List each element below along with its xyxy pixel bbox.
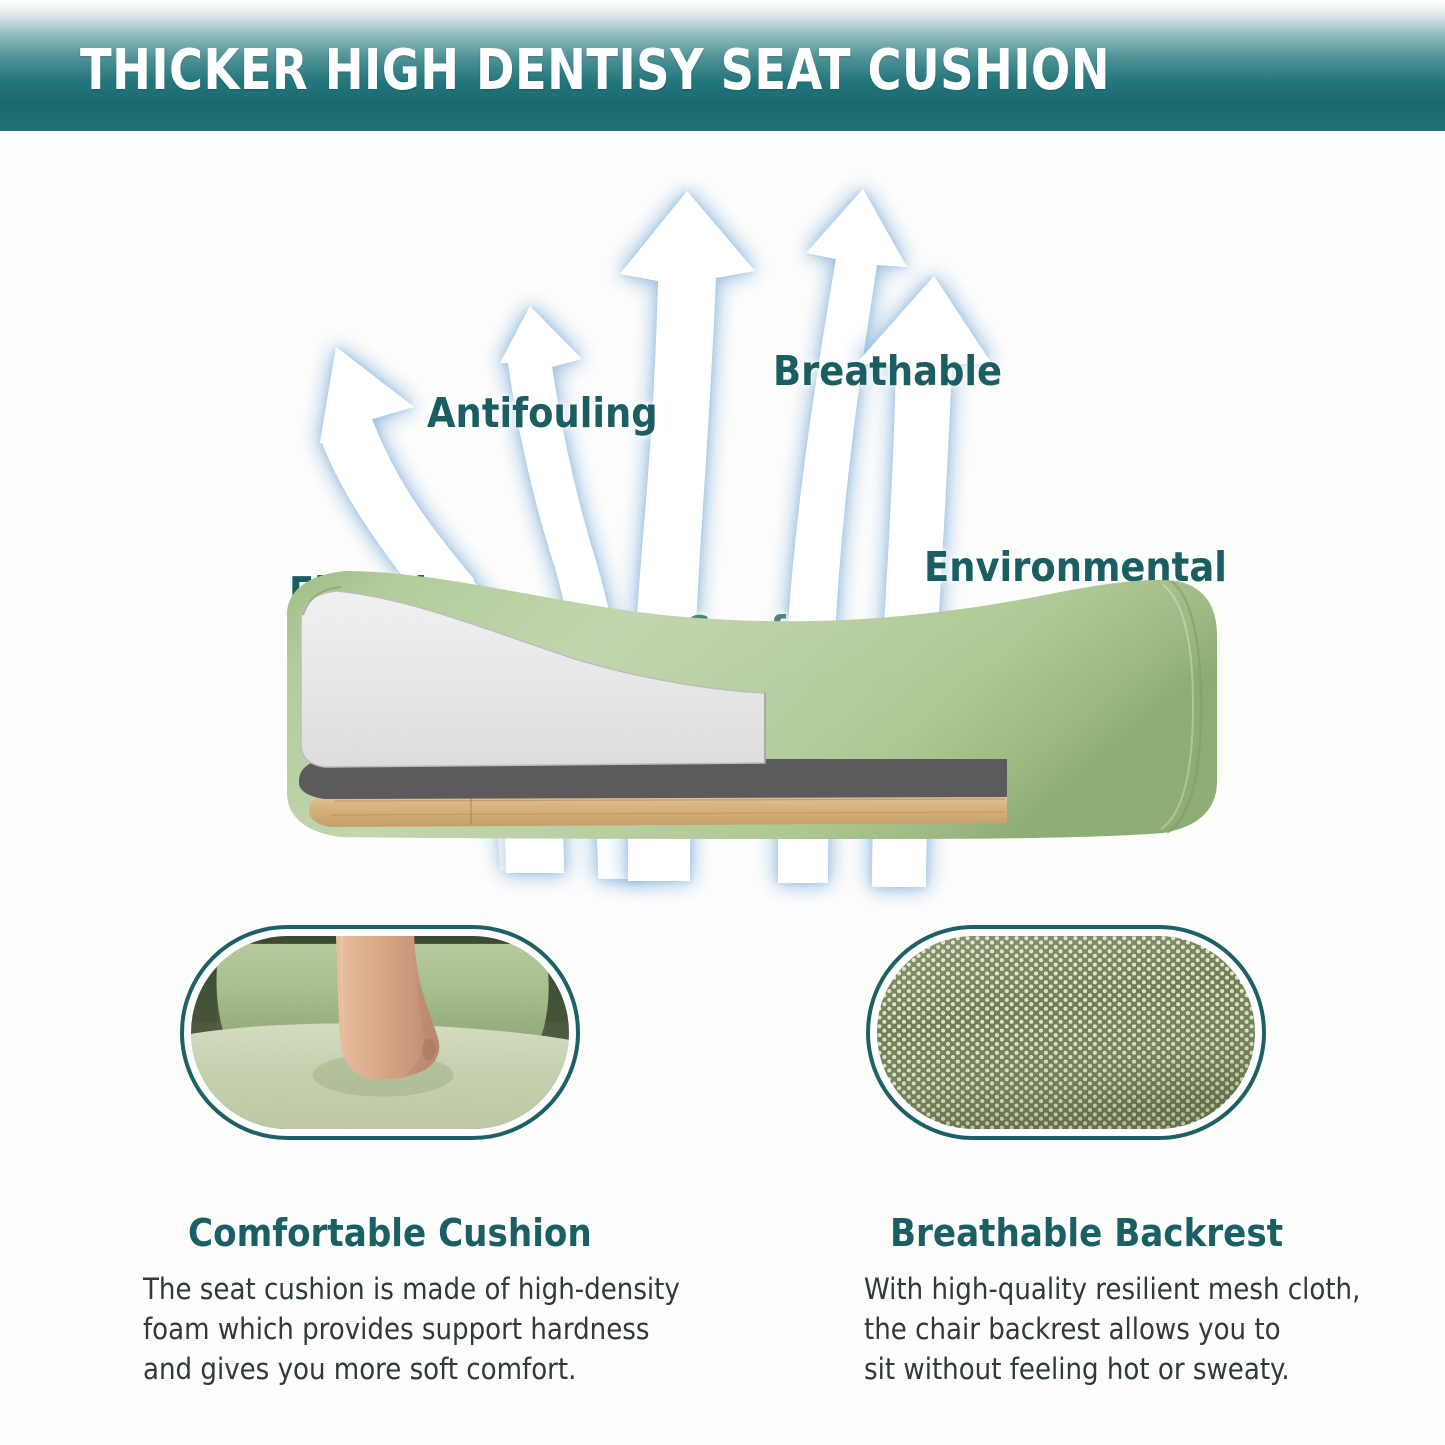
- header-banner: THICKER HIGH DENTISY SEAT CUSHION: [0, 0, 1445, 131]
- infographic-page: THICKER HIGH DENTISY SEAT CUSHION: [0, 0, 1445, 1445]
- heading-comfortable-cushion: Comfortable Cushion: [188, 1211, 592, 1255]
- feature-label-antifouling: Antifouling: [427, 389, 658, 437]
- panel-comfortable-cushion: [180, 925, 580, 1140]
- page-title: THICKER HIGH DENTISY SEAT CUSHION: [80, 38, 1110, 103]
- panel-breathable-backrest: [866, 925, 1266, 1140]
- product-cushion-image: [265, 555, 1225, 855]
- body-breathable-backrest: With high-quality resilient mesh cloth, …: [864, 1269, 1445, 1389]
- feature-label-breathable: Breathable: [773, 347, 1002, 395]
- green-mesh-fabric-photo: [877, 936, 1255, 1129]
- body-comfortable-cushion: The seat cushion is made of high-density…: [143, 1269, 763, 1389]
- heading-breathable-backrest: Breathable Backrest: [890, 1211, 1283, 1255]
- hand-pressing-cushion-photo: [191, 936, 569, 1129]
